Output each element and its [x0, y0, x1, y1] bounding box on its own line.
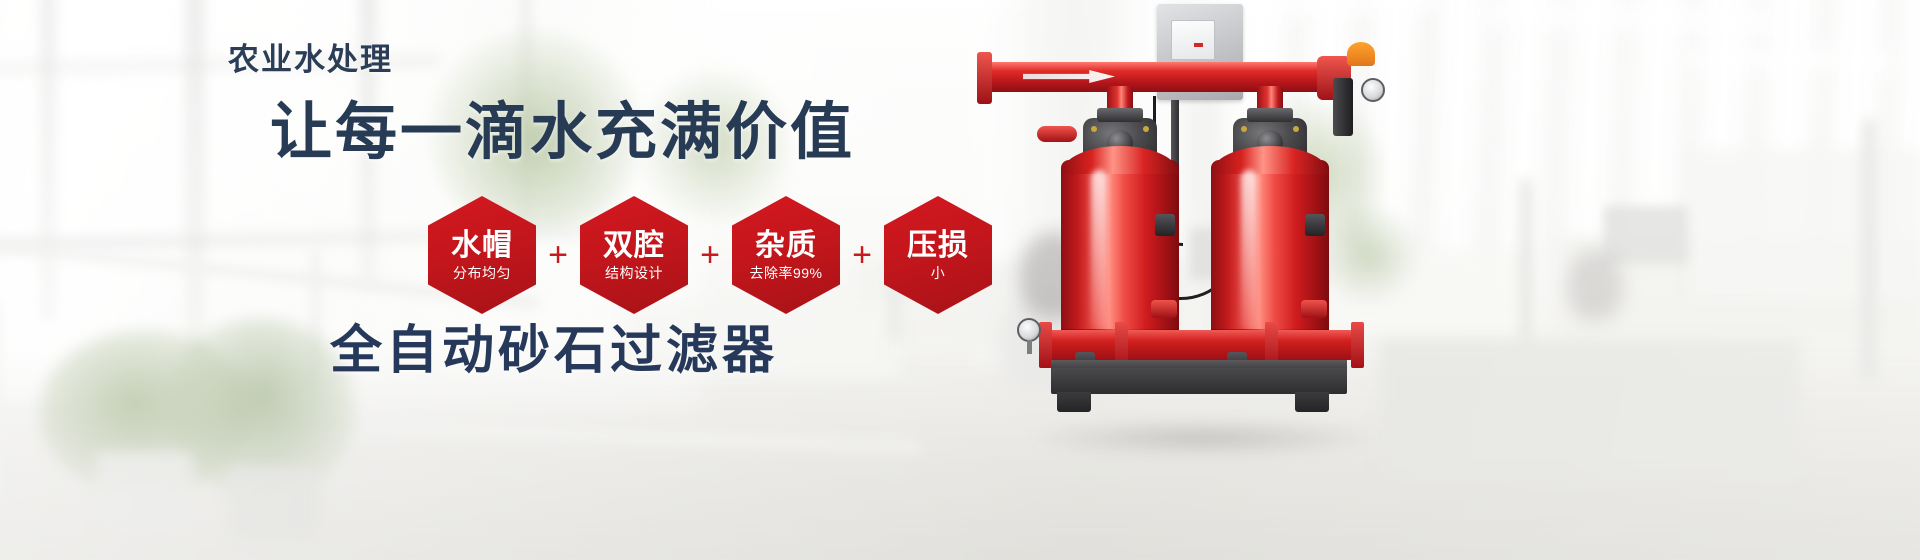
promo-banner: 农业水处理 让每一滴水充满价值 水帽 分布均匀 + 双腔 结构设计 + 杂质 去… [0, 0, 1920, 560]
badge-title: 双腔 [603, 230, 665, 262]
feature-badge-3: 杂质 去除率99% [732, 196, 840, 314]
badge-subtitle: 小 [931, 266, 946, 280]
badge-title: 杂质 [755, 230, 817, 262]
badge-title: 压损 [907, 230, 969, 262]
badge-subtitle: 结构设计 [605, 266, 663, 280]
banner-subheadline: 全自动砂石过滤器 [330, 325, 778, 377]
plus-separator-icon: + [840, 238, 884, 272]
feature-badge-row: 水帽 分布均匀 + 双腔 结构设计 + 杂质 去除率99% + 压损 小 [428, 196, 992, 314]
banner-eyebrow: 农业水处理 [228, 44, 393, 75]
badge-title: 水帽 [451, 230, 513, 262]
feature-badge-2: 双腔 结构设计 [580, 196, 688, 314]
badge-subtitle: 分布均匀 [453, 266, 511, 280]
plus-separator-icon: + [688, 238, 732, 272]
banner-content: 农业水处理 让每一滴水充满价值 水帽 分布均匀 + 双腔 结构设计 + 杂质 去… [0, 0, 1920, 560]
feature-badge-1: 水帽 分布均匀 [428, 196, 536, 314]
banner-headline: 让每一滴水充满价值 [270, 102, 855, 164]
plus-separator-icon: + [536, 238, 580, 272]
badge-subtitle: 去除率99% [749, 266, 822, 280]
feature-badge-4: 压损 小 [884, 196, 992, 314]
